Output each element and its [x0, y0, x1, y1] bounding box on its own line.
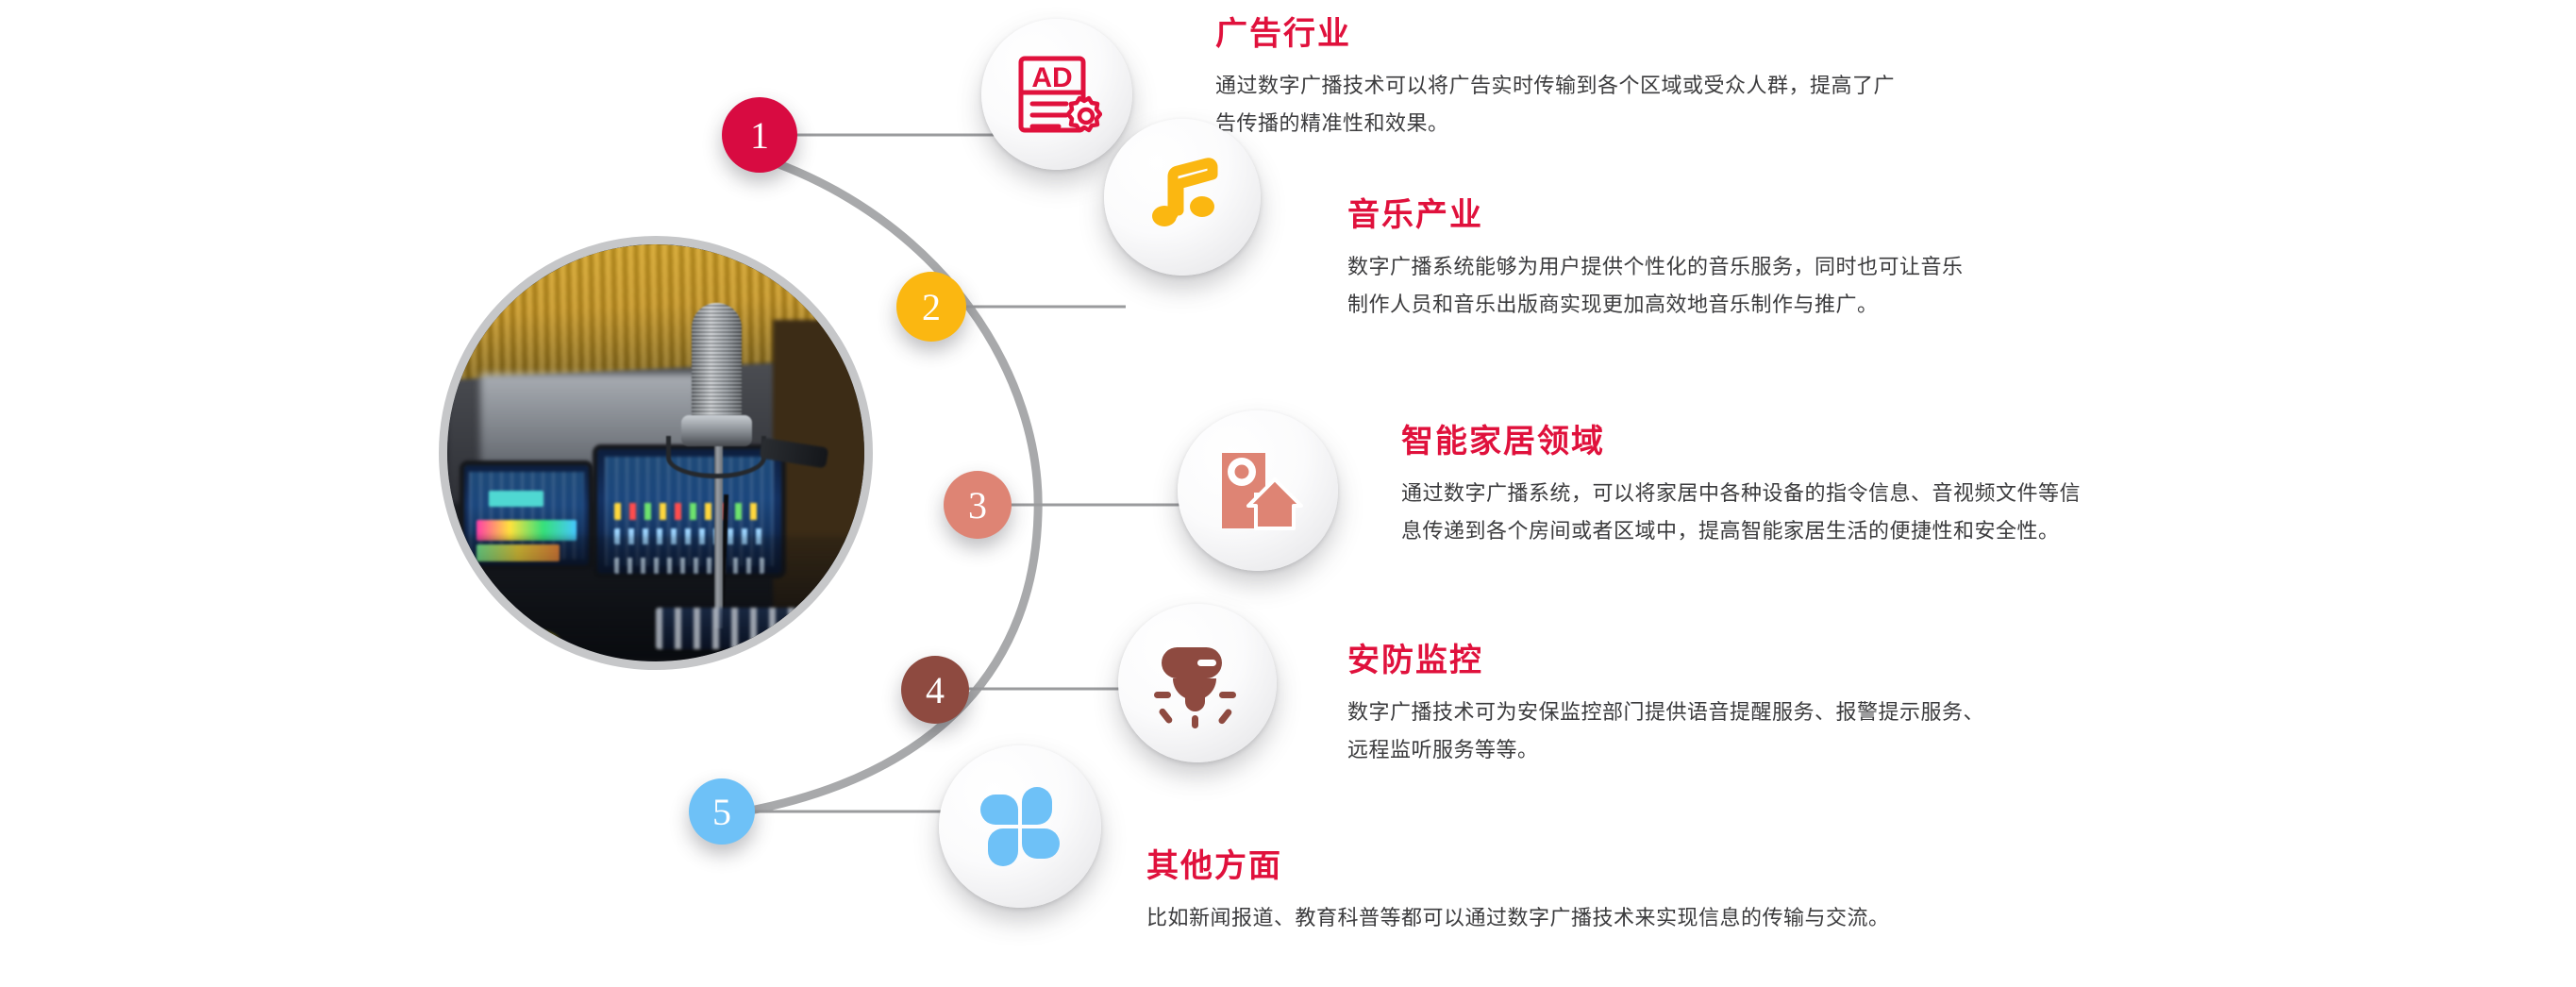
step-badge-5[interactable]: 5 [689, 778, 755, 845]
ad-document-gear-icon: AD [1012, 49, 1102, 140]
security-camera-icon [1150, 638, 1245, 728]
section-body-advertising: 通过数字广播技术可以将广告实时传输到各个区域或受众人群，提高了广 告传播的精准性… [1215, 67, 2348, 142]
section-others: 其他方面 比如新闻报道、教育科普等都可以通过数字广播技术来实现信息的传输与交流。 [1146, 840, 2420, 937]
section-title-smart-home: 智能家居领域 [1401, 415, 2562, 461]
section-title-music: 音乐产业 [1347, 189, 2480, 235]
svg-text:AD: AD [1031, 62, 1072, 93]
radio-studio-photo [439, 236, 873, 670]
step-number-1: 1 [750, 113, 769, 158]
four-petal-clover-icon [977, 783, 1063, 870]
step-number-3: 3 [968, 483, 987, 527]
step-number-4: 4 [926, 668, 945, 712]
music-note-icon [1139, 154, 1226, 241]
section-title-advertising: 广告行业 [1215, 8, 2348, 54]
icon-disc-others[interactable] [939, 745, 1101, 908]
icon-disc-advertising[interactable]: AD [981, 19, 1132, 170]
step-badge-1[interactable]: 1 [722, 97, 797, 173]
icon-disc-music[interactable] [1104, 119, 1261, 276]
step-number-5: 5 [712, 790, 731, 834]
section-body-smart-home: 通过数字广播系统，可以将家居中各种设备的指令信息、音视频文件等信 息传递到各个房… [1401, 475, 2562, 550]
step-badge-3[interactable]: 3 [944, 471, 1012, 539]
step-badge-2[interactable]: 2 [896, 272, 966, 342]
icon-disc-security[interactable] [1118, 604, 1277, 762]
section-body-security: 数字广播技术可为安保监控部门提供语音提醒服务、报警提示服务、 远程监听服务等等。 [1347, 694, 2433, 769]
infographic-canvas: 1 AD 广告行业 通过数字广播技术可以将广告实时传输到各个区域或受众人群，提高… [0, 0, 2576, 987]
section-title-others: 其他方面 [1146, 840, 2420, 886]
section-title-security: 安防监控 [1347, 634, 2433, 680]
section-body-others: 比如新闻报道、教育科普等都可以通过数字广播技术来实现信息的传输与交流。 [1146, 899, 2420, 937]
section-body-music: 数字广播系统能够为用户提供个性化的音乐服务，同时也可让音乐 制作人员和音乐出版商… [1347, 248, 2480, 324]
section-security: 安防监控 数字广播技术可为安保监控部门提供语音提醒服务、报警提示服务、 远程监听… [1347, 634, 2433, 769]
icon-disc-smart-home[interactable] [1178, 410, 1338, 571]
section-smart-home: 智能家居领域 通过数字广播系统，可以将家居中各种设备的指令信息、音视频文件等信 … [1401, 415, 2562, 550]
section-music: 音乐产业 数字广播系统能够为用户提供个性化的音乐服务，同时也可让音乐 制作人员和… [1347, 189, 2480, 324]
step-badge-4[interactable]: 4 [901, 656, 969, 724]
smart-home-speaker-icon [1211, 445, 1305, 536]
section-advertising: 广告行业 通过数字广播技术可以将广告实时传输到各个区域或受众人群，提高了广 告传… [1215, 8, 2348, 142]
step-number-2: 2 [922, 285, 941, 329]
